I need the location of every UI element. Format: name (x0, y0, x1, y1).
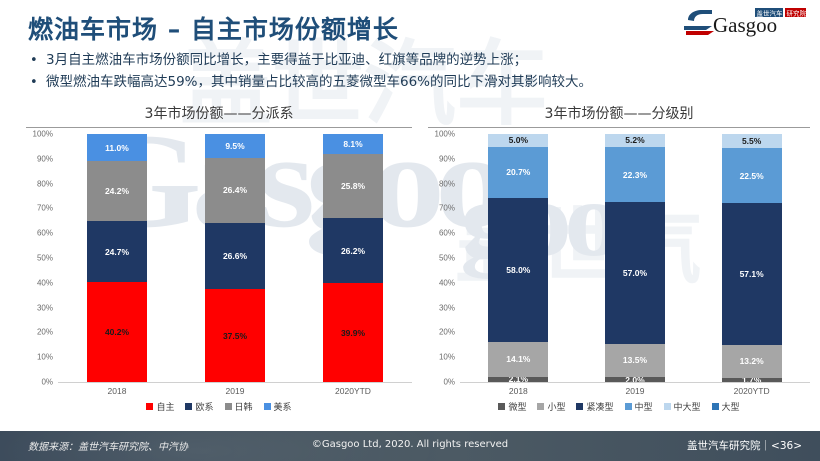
bar-value-label: 13.5% (623, 355, 647, 365)
bar-segment[interactable]: 8.1% (323, 134, 383, 154)
svg-text:盖世汽车: 盖世汽车 (757, 8, 784, 17)
legend-label: 小型 (547, 400, 565, 413)
chart-legend-right: 微型小型紧凑型中型中大型大型 (424, 400, 814, 413)
y-axis-tick: 20% (37, 328, 53, 337)
bar-segment[interactable]: 40.2% (87, 282, 147, 382)
bar-value-label: 26.6% (223, 251, 247, 261)
bar-segment[interactable]: 24.7% (87, 221, 147, 282)
legend-item[interactable]: 紧凑型 (576, 400, 613, 413)
logo-arrow-icon (684, 10, 714, 35)
y-axis-tick: 90% (439, 154, 455, 163)
bar-segment[interactable]: 5.5% (722, 134, 782, 148)
legend-swatch-icon (664, 403, 671, 410)
bar-segment[interactable]: 39.9% (323, 283, 383, 382)
y-axis-tick: 10% (37, 353, 53, 362)
legend-item[interactable]: 日韩 (225, 400, 253, 413)
bar-value-label: 57.0% (623, 268, 647, 278)
bar-segment[interactable]: 57.0% (605, 202, 665, 343)
bar-value-label: 57.1% (740, 269, 764, 279)
legend-item[interactable]: 美系 (264, 400, 292, 413)
bars-right: 5.0%20.7%58.0%14.1%2.1%5.2%22.3%57.0%13.… (460, 134, 810, 382)
legend-swatch-icon (576, 403, 583, 410)
legend-swatch-icon (264, 403, 271, 410)
y-axis-tick: 40% (37, 278, 53, 287)
legend-item[interactable]: 大型 (712, 400, 740, 413)
legend-label: 中大型 (674, 400, 701, 413)
bar-segment[interactable]: 13.5% (605, 344, 665, 377)
bar-value-label: 5.2% (625, 135, 644, 145)
legend-swatch-icon (146, 403, 153, 410)
legend-label: 微型 (508, 400, 526, 413)
legend-swatch-icon (185, 403, 192, 410)
bar-segment[interactable]: 24.2% (87, 161, 147, 221)
bars-left: 11.0%24.2%24.7%40.2%9.5%26.4%26.6%37.5%8… (58, 134, 412, 382)
bar-segment[interactable]: 22.3% (605, 147, 665, 202)
legend-swatch-icon (712, 403, 719, 410)
y-axis-tick: 20% (439, 328, 455, 337)
bar-value-label: 11.0% (105, 143, 129, 153)
chart-title-divider (26, 127, 412, 128)
bullet-marker-icon: • (30, 50, 46, 71)
bar-value-label: 8.1% (343, 139, 362, 149)
chart-panel-by-class: 3年市场份额——分级别 0%10%20%30%40%50%60%70%80%90… (424, 104, 814, 429)
gasgoo-logo: Gasgoo 盖世汽车 研究院 (682, 6, 808, 40)
x-axis-line-right (460, 382, 810, 383)
legend-label: 欧系 (195, 400, 213, 413)
bar-segment[interactable]: 9.5% (205, 134, 265, 158)
chart-legend-left: 自主欧系日韩美系 (22, 400, 416, 413)
stacked-bar[interactable]: 5.2%22.3%57.0%13.5%2.0% (605, 134, 665, 382)
legend-swatch-icon (225, 403, 232, 410)
y-axis-tick: 70% (439, 204, 455, 213)
bullet-marker-icon: • (30, 72, 46, 93)
bar-value-label: 26.4% (223, 185, 247, 195)
legend-swatch-icon (498, 403, 505, 410)
page-title: 燃油车市场 – 自主市场份额增长 (28, 10, 399, 46)
bar-segment[interactable]: 26.4% (205, 158, 265, 223)
bar-value-label: 24.7% (105, 247, 129, 257)
legend-item[interactable]: 自主 (146, 400, 174, 413)
legend-item[interactable]: 欧系 (185, 400, 213, 413)
bar-value-label: 22.3% (623, 170, 647, 180)
y-axis-tick: 80% (439, 179, 455, 188)
stacked-bar[interactable]: 11.0%24.2%24.7%40.2% (87, 134, 147, 382)
bar-value-label: 25.8% (341, 181, 365, 191)
bar-value-label: 39.9% (341, 328, 365, 338)
bar-segment[interactable]: 14.1% (488, 342, 548, 377)
legend-label: 中型 (635, 400, 653, 413)
bullet-text-1: 3月自主燃油车市场份额同比增长，主要得益于比亚迪、红旗等品牌的逆势上涨； (46, 50, 800, 71)
stacked-bar[interactable]: 5.0%20.7%58.0%14.1%2.1% (488, 134, 548, 382)
legend-label: 紧凑型 (586, 400, 613, 413)
bar-segment[interactable]: 37.5% (205, 289, 265, 382)
y-axis-tick: 70% (37, 204, 53, 213)
bar-segment[interactable]: 5.2% (605, 134, 665, 147)
y-axis-tick: 10% (439, 353, 455, 362)
bar-value-label: 22.5% (740, 171, 764, 181)
bar-segment[interactable]: 26.6% (205, 223, 265, 289)
y-axis-tick: 80% (37, 179, 53, 188)
legend-item[interactable]: 微型 (498, 400, 526, 413)
y-axis-tick: 60% (37, 229, 53, 238)
legend-swatch-icon (537, 403, 544, 410)
legend-label: 美系 (274, 400, 292, 413)
bullet-text-2: 微型燃油车跌幅高达59%，其中销量占比较高的五菱微型车66%的同比下滑对其影响较… (46, 72, 800, 93)
y-axis-tick: 50% (439, 254, 455, 263)
y-axis-tick: 0% (41, 378, 53, 387)
bar-segment[interactable]: 25.8% (323, 154, 383, 218)
legend-item[interactable]: 小型 (537, 400, 565, 413)
chart-title-divider (428, 127, 810, 128)
bar-value-label: 14.1% (506, 354, 530, 364)
y-axis-tick: 40% (439, 278, 455, 287)
legend-label: 大型 (722, 400, 740, 413)
legend-label: 自主 (156, 400, 174, 413)
y-axis-tick: 100% (33, 130, 53, 139)
bar-segment[interactable]: 22.5% (722, 148, 782, 204)
bar-segment[interactable]: 57.1% (722, 203, 782, 345)
chart-title-left: 3年市场份额——分派系 (22, 104, 416, 125)
chart-title-right: 3年市场份额——分级别 (424, 104, 814, 125)
stacked-bar[interactable]: 8.1%25.8%26.2%39.9% (323, 134, 383, 382)
bar-value-label: 13.2% (740, 356, 764, 366)
slide: Gasgoo goo 盖世汽车 盖世汽 燃油车市场 – 自主市场份额增长 Gas… (0, 0, 820, 461)
stacked-bar[interactable]: 5.5%22.5%57.1%13.2%1.7% (722, 134, 782, 382)
x-axis-line-left (58, 382, 412, 383)
y-axis-left: 0%10%20%30%40%50%60%70%80%90%100% (22, 134, 56, 382)
svg-text:研究院: 研究院 (787, 8, 807, 17)
chart-panel-by-origin: 3年市场份额——分派系 0%10%20%30%40%50%60%70%80%90… (22, 104, 416, 429)
y-axis-right: 0%10%20%30%40%50%60%70%80%90%100% (424, 134, 458, 382)
y-axis-tick: 50% (37, 254, 53, 263)
bullet-list: • 3月自主燃油车市场份额同比增长，主要得益于比亚迪、红旗等品牌的逆势上涨； •… (30, 50, 800, 94)
bar-segment[interactable]: 11.0% (87, 134, 147, 161)
legend-item[interactable]: 中大型 (664, 400, 701, 413)
legend-label: 日韩 (235, 400, 253, 413)
bar-segment[interactable]: 26.2% (323, 218, 383, 283)
stacked-bar[interactable]: 9.5%26.4%26.6%37.5% (205, 134, 265, 382)
bullet-item-2: • 微型燃油车跌幅高达59%，其中销量占比较高的五菱微型车66%的同比下滑对其影… (30, 72, 800, 93)
bar-value-label: 5.0% (509, 135, 528, 145)
legend-swatch-icon (625, 403, 632, 410)
bar-segment[interactable]: 20.7% (488, 147, 548, 198)
bar-segment[interactable]: 58.0% (488, 198, 548, 342)
legend-item[interactable]: 中型 (625, 400, 653, 413)
y-axis-tick: 30% (439, 303, 455, 312)
bullet-item-1: • 3月自主燃油车市场份额同比增长，主要得益于比亚迪、红旗等品牌的逆势上涨； (30, 50, 800, 71)
bar-segment[interactable]: 13.2% (722, 345, 782, 378)
plot-left: 0%10%20%30%40%50%60%70%80%90%100% 11.0%2… (22, 134, 416, 392)
bar-segment[interactable]: 5.0% (488, 134, 548, 146)
bar-value-label: 9.5% (225, 141, 244, 151)
y-axis-tick: 60% (439, 229, 455, 238)
footer-bar: 数据来源：盖世汽车研究院、中汽协 ©Gasgoo Ltd, 2020. All … (0, 431, 820, 461)
y-axis-tick: 30% (37, 303, 53, 312)
bar-value-label: 40.2% (105, 327, 129, 337)
bar-value-label: 37.5% (223, 331, 247, 341)
footer-page: 盖世汽车研究院｜<36> (687, 438, 802, 453)
plot-right: 0%10%20%30%40%50%60%70%80%90%100% 5.0%20… (424, 134, 814, 392)
bar-value-label: 26.2% (341, 246, 365, 256)
y-axis-tick: 90% (37, 154, 53, 163)
bar-value-label: 24.2% (105, 186, 129, 196)
y-axis-tick: 0% (443, 378, 455, 387)
y-axis-tick: 100% (435, 130, 455, 139)
bar-value-label: 58.0% (506, 265, 530, 275)
bar-value-label: 5.5% (742, 136, 761, 146)
bar-value-label: 20.7% (506, 167, 530, 177)
